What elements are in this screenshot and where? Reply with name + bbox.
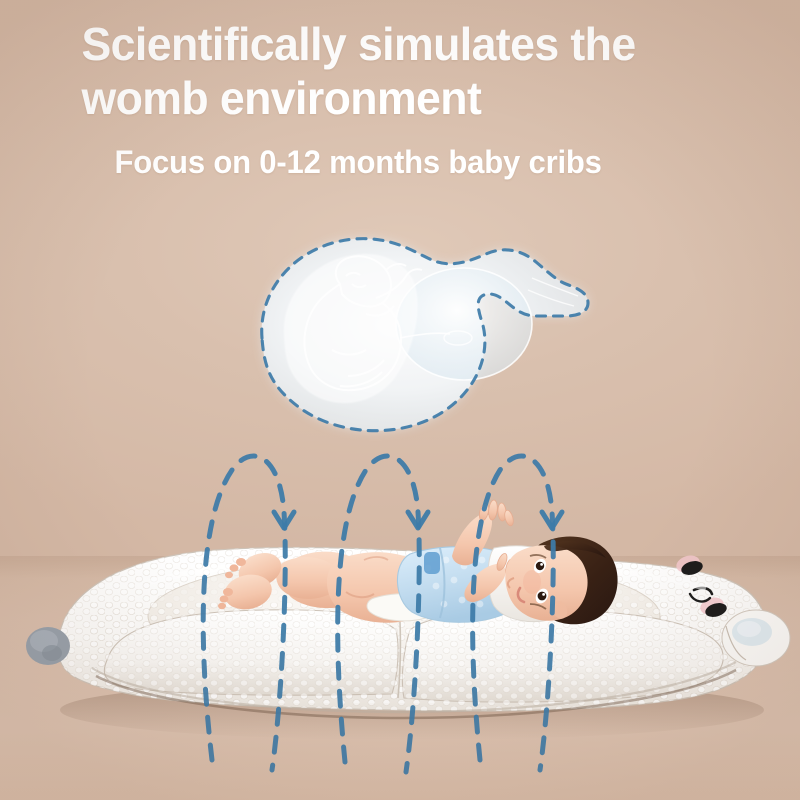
title-line-2: womb environment bbox=[81, 72, 481, 124]
baby-eye-upper-glint bbox=[540, 563, 543, 566]
baby-eye-upper-iris bbox=[536, 562, 544, 570]
baby-eye-lower-iris bbox=[538, 592, 547, 601]
page-subtitle: Focus on 0-12 months baby cribs bbox=[0, 144, 776, 181]
baby-cheek bbox=[523, 570, 541, 594]
banner-canvas: Scientifically simulates the womb enviro… bbox=[0, 0, 800, 800]
iridescent-paw-patch bbox=[722, 610, 790, 666]
title-line-1: Scientifically simulates the bbox=[81, 18, 635, 70]
baby-eye-lower-glint bbox=[542, 593, 545, 596]
pom-pom-tail bbox=[26, 627, 70, 665]
headline-block: Scientifically simulates the womb enviro… bbox=[0, 0, 800, 181]
baby-lying-in-crib bbox=[188, 500, 618, 690]
outfit-tag bbox=[424, 552, 440, 574]
page-title: Scientifically simulates the womb enviro… bbox=[0, 18, 679, 126]
womb-diagram bbox=[236, 226, 606, 441]
